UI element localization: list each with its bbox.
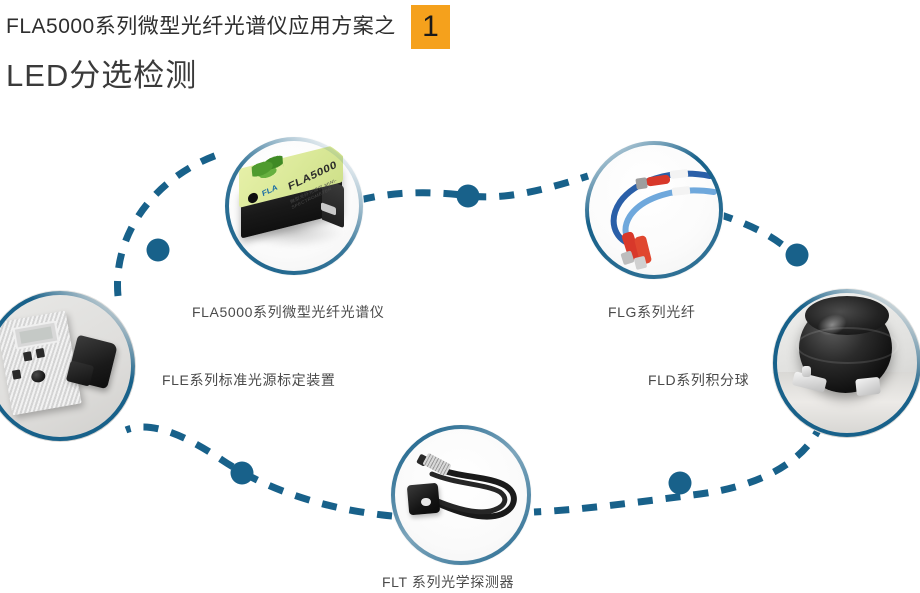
connector-segment-left-top <box>117 152 226 296</box>
node-fiber[interactable] <box>584 140 724 280</box>
caption-spectrometer: FLA5000系列微型光纤光谱仪 <box>192 302 384 322</box>
caption-optical-detector: FLT 系列光学探测器 <box>382 572 514 592</box>
optical-detector-photo <box>390 424 532 566</box>
caption-integrating-sphere: FLD系列积分球 <box>648 370 749 390</box>
connector-segment-right-top <box>718 214 806 266</box>
connector-node-3 <box>786 244 809 267</box>
connector-node-2 <box>457 185 480 208</box>
integrating-sphere-photo <box>772 288 920 438</box>
node-integrating-sphere[interactable] <box>772 288 920 438</box>
light-source-photo <box>0 290 136 442</box>
node-light-source[interactable] <box>0 290 136 442</box>
connector-segment-bottom <box>126 427 392 516</box>
fiber-cable-art <box>584 140 724 280</box>
node-optical-detector[interactable] <box>390 424 532 566</box>
connector-node-4 <box>669 472 692 495</box>
fiber-photo <box>584 140 724 280</box>
caption-light-source: FLE系列标准光源标定装置 <box>162 370 335 390</box>
connector-node-1 <box>147 239 170 262</box>
caption-fiber: FLG系列光纤 <box>608 302 695 322</box>
connector-segment-top <box>360 176 588 200</box>
page-root: FLA5000系列微型光纤光谱仪应用方案之 1 LED分选检测 <box>0 0 920 593</box>
node-spectrometer[interactable]: FLA5000 微型光纤光谱仪 MINI-SPECTROMETER FLA <box>224 136 364 276</box>
spectrometer-photo: FLA5000 微型光纤光谱仪 MINI-SPECTROMETER FLA <box>224 136 364 276</box>
cycle-diagram: FLA5000 微型光纤光谱仪 MINI-SPECTROMETER FLA <box>0 0 920 593</box>
connector-node-5 <box>231 462 254 485</box>
